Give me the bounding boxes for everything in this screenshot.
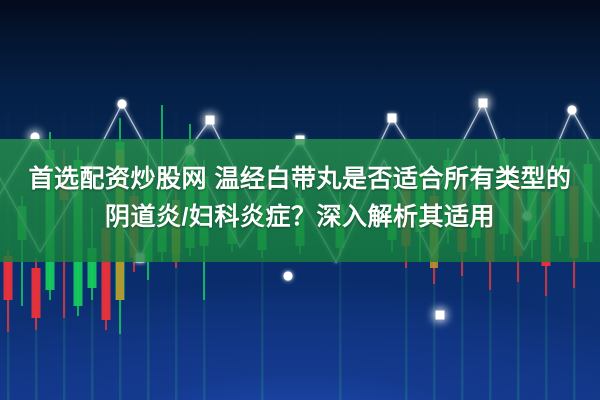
headline-line-2: 阴道炎/妇科炎症？深入解析其适用 <box>0 198 600 236</box>
headline: 首选配资炒股网 温经白带丸是否适合所有类型的 阴道炎/妇科炎症？深入解析其适用 <box>0 160 600 236</box>
stock-banner-image: 首选配资炒股网 温经白带丸是否适合所有类型的 阴道炎/妇科炎症？深入解析其适用 <box>0 0 600 400</box>
headline-line-1: 首选配资炒股网 温经白带丸是否适合所有类型的 <box>0 160 600 198</box>
